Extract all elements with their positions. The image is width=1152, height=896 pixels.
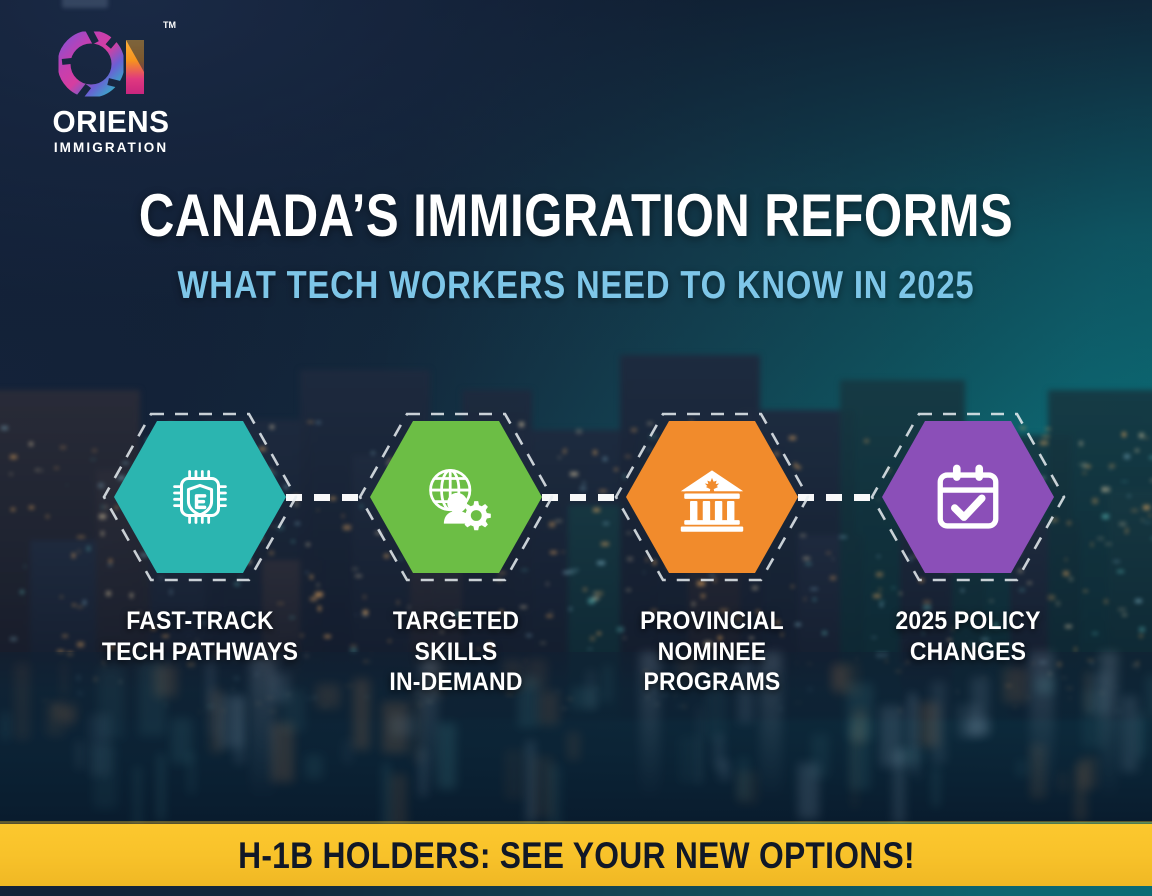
step-label: TARGETED SKILLS IN-DEMAND (349, 606, 562, 698)
brand-tagline: IMMIGRATION (36, 141, 186, 155)
infographic-poster: TM ORIENS IMMIGRATION CANADA’S IMMIGRATI… (0, 0, 1152, 896)
step-hexagon (852, 404, 1084, 590)
government-building-maple-leaf-icon (675, 460, 749, 534)
step-provincial-nominee-programs[interactable]: PROVINCIAL NOMINEE PROGRAMS (596, 404, 828, 698)
step-label: FAST-TRACK TECH PATHWAYS (93, 606, 306, 667)
page-subtitle: WHAT TECH WORKERS NEED TO KNOW IN 2025 (92, 266, 1060, 305)
chip-shield-e-icon (163, 460, 237, 534)
step-hexagon (596, 404, 828, 590)
oriens-o-i-monogram-icon: TM (58, 22, 174, 102)
step-hexagon (84, 404, 316, 590)
steps-row: FAST-TRACK TECH PATHWAYS (0, 404, 1152, 704)
step-label: PROVINCIAL NOMINEE PROGRAMS (605, 606, 818, 698)
header-block: CANADA’S IMMIGRATION REFORMS WHAT TECH W… (0, 186, 1152, 305)
cta-banner[interactable]: H-1B HOLDERS: SEE YOUR NEW OPTIONS! (0, 824, 1152, 886)
globe-person-gear-icon (419, 460, 493, 534)
brand-logo: TM ORIENS IMMIGRATION (36, 22, 186, 155)
background-top-edge-artifact (62, 0, 108, 8)
trademark-symbol: TM (163, 20, 176, 30)
step-hexagon (340, 404, 572, 590)
step-2025-policy-changes[interactable]: 2025 POLICY CHANGES (852, 404, 1084, 667)
brand-name: ORIENS (39, 106, 183, 137)
page-title: CANADA’S IMMIGRATION REFORMS (104, 186, 1049, 246)
step-fast-track-tech-pathways[interactable]: FAST-TRACK TECH PATHWAYS (84, 404, 316, 667)
step-targeted-skills-in-demand[interactable]: TARGETED SKILLS IN-DEMAND (340, 404, 572, 698)
cta-banner-text: H-1B HOLDERS: SEE YOUR NEW OPTIONS! (238, 837, 915, 874)
calendar-check-icon (931, 460, 1005, 534)
step-label: 2025 POLICY CHANGES (861, 606, 1074, 667)
